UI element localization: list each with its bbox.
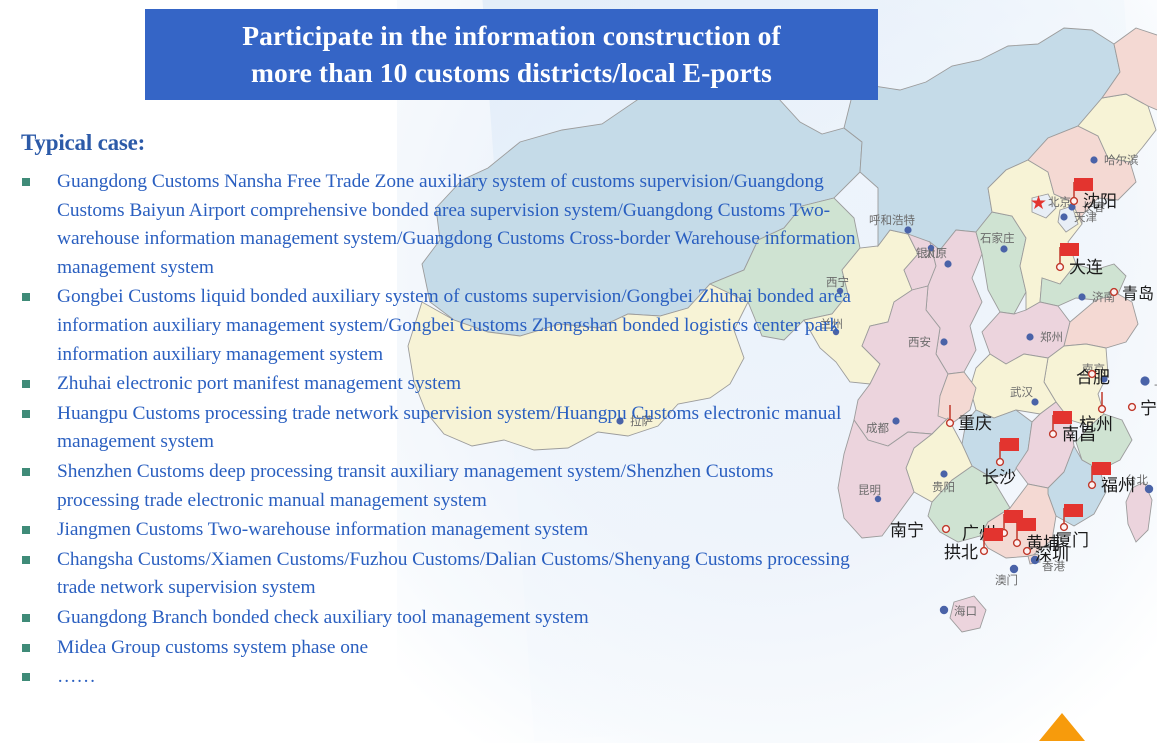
list-item-label: Changsha Customs/Xiamen Customs/Fuzhou C… xyxy=(57,546,857,603)
list-item: Guangdong Customs Nansha Free Trade Zone… xyxy=(20,168,860,282)
bullet-square-icon xyxy=(22,293,30,301)
svg-text:海口: 海口 xyxy=(954,604,977,618)
list-item-label: Gongbei Customs liquid bonded auxiliary … xyxy=(57,283,857,369)
svg-text:贵阳: 贵阳 xyxy=(932,480,955,494)
title-line-1: Participate in the information construct… xyxy=(242,20,781,51)
svg-text:南京: 南京 xyxy=(1082,362,1105,376)
beijing-star-icon: ★ xyxy=(1030,192,1047,214)
title-line-2: more than 10 customs districts/local E-p… xyxy=(251,57,772,88)
svg-text:重庆: 重庆 xyxy=(958,414,992,434)
bullet-square-icon xyxy=(22,468,30,476)
bullet-square-icon xyxy=(22,614,30,622)
svg-text:澳门: 澳门 xyxy=(995,573,1018,587)
svg-text:宁波: 宁波 xyxy=(1140,399,1157,419)
svg-text:郑州: 郑州 xyxy=(1040,330,1063,344)
svg-text:西安: 西安 xyxy=(908,335,931,349)
bullet-square-icon xyxy=(22,556,30,564)
svg-text:福州: 福州 xyxy=(1101,476,1135,496)
svg-text:香港: 香港 xyxy=(1042,559,1065,573)
list-item-label: Jiangmen Customs Two-warehouse informati… xyxy=(57,516,588,545)
svg-text:沈阳: 沈阳 xyxy=(1083,192,1117,212)
case-bullet-list: Guangdong Customs Nansha Free Trade Zone… xyxy=(20,168,860,693)
typical-case-heading: Typical case: xyxy=(21,130,145,156)
svg-text:成都: 成都 xyxy=(866,421,889,435)
list-item: Jiangmen Customs Two-warehouse informati… xyxy=(20,516,860,545)
list-item: Zhuhai electronic port manifest manageme… xyxy=(20,370,860,399)
svg-text:拱北: 拱北 xyxy=(944,543,978,563)
svg-text:南宁: 南宁 xyxy=(890,521,924,541)
list-item: Guangdong Branch bonded check auxiliary … xyxy=(20,604,860,633)
list-item-label: Shenzhen Customs deep processing transit… xyxy=(57,458,857,515)
bullet-square-icon xyxy=(22,178,30,186)
list-item: Changsha Customs/Xiamen Customs/Fuzhou C… xyxy=(20,546,860,603)
list-item: Huangpu Customs processing trade network… xyxy=(20,400,860,457)
svg-text:黄埔: 黄埔 xyxy=(1026,534,1060,554)
svg-text:杭州: 杭州 xyxy=(1079,415,1113,435)
list-item: Gongbei Customs liquid bonded auxiliary … xyxy=(20,283,860,369)
slide-title-banner: Participate in the information construct… xyxy=(145,9,878,100)
svg-text:长春: 长春 xyxy=(1082,200,1105,214)
svg-text:南昌: 南昌 xyxy=(1062,425,1096,445)
list-item-label: Zhuhai electronic port manifest manageme… xyxy=(57,370,461,399)
svg-text:石家庄: 石家庄 xyxy=(980,231,1015,245)
list-item: Shenzhen Customs deep processing transit… xyxy=(20,458,860,515)
orange-triangle-icon xyxy=(1039,713,1085,741)
svg-text:台北: 台北 xyxy=(1125,473,1148,487)
svg-text:昆明: 昆明 xyxy=(858,483,881,497)
svg-text:银川: 银川 xyxy=(916,246,939,260)
svg-text:哈尔滨: 哈尔滨 xyxy=(1104,153,1139,167)
svg-text:广州: 广州 xyxy=(962,524,996,544)
slide-title-text: Participate in the information construct… xyxy=(228,18,795,91)
list-item: Midea Group customs system phase one xyxy=(20,634,860,663)
list-item-label: Midea Group customs system phase one xyxy=(57,634,368,663)
svg-text:北京: 北京 xyxy=(1048,195,1071,209)
slide-canvas: 哈尔滨 长春 呼和浩特 天津 石家庄 太原 济南 郑州 银川 西宁 兰州 西安 … xyxy=(0,0,1157,743)
svg-text:太原: 太原 xyxy=(924,246,947,260)
svg-text:深圳: 深圳 xyxy=(1035,545,1069,565)
svg-text:大连: 大连 xyxy=(1069,258,1103,278)
bullet-square-icon xyxy=(22,673,30,681)
svg-text:武汉: 武汉 xyxy=(1010,385,1033,399)
svg-text:厦门: 厦门 xyxy=(1055,531,1089,551)
bullet-square-icon xyxy=(22,410,30,418)
svg-text:青岛: 青岛 xyxy=(1122,284,1154,303)
svg-text:天津: 天津 xyxy=(1074,210,1097,224)
svg-text:长沙: 长沙 xyxy=(982,468,1016,488)
svg-text:济南: 济南 xyxy=(1092,290,1115,304)
bullet-square-icon xyxy=(22,380,30,388)
list-item-label: …… xyxy=(57,663,96,692)
list-item-label: Huangpu Customs processing trade network… xyxy=(57,400,857,457)
svg-text:呼和浩特: 呼和浩特 xyxy=(869,213,915,227)
list-item-label: Guangdong Branch bonded check auxiliary … xyxy=(57,604,589,633)
list-item-label: Guangdong Customs Nansha Free Trade Zone… xyxy=(57,168,857,282)
bullet-square-icon xyxy=(22,644,30,652)
bullet-square-icon xyxy=(22,526,30,534)
svg-text:合肥: 合肥 xyxy=(1076,368,1110,388)
list-item: …… xyxy=(20,663,860,692)
